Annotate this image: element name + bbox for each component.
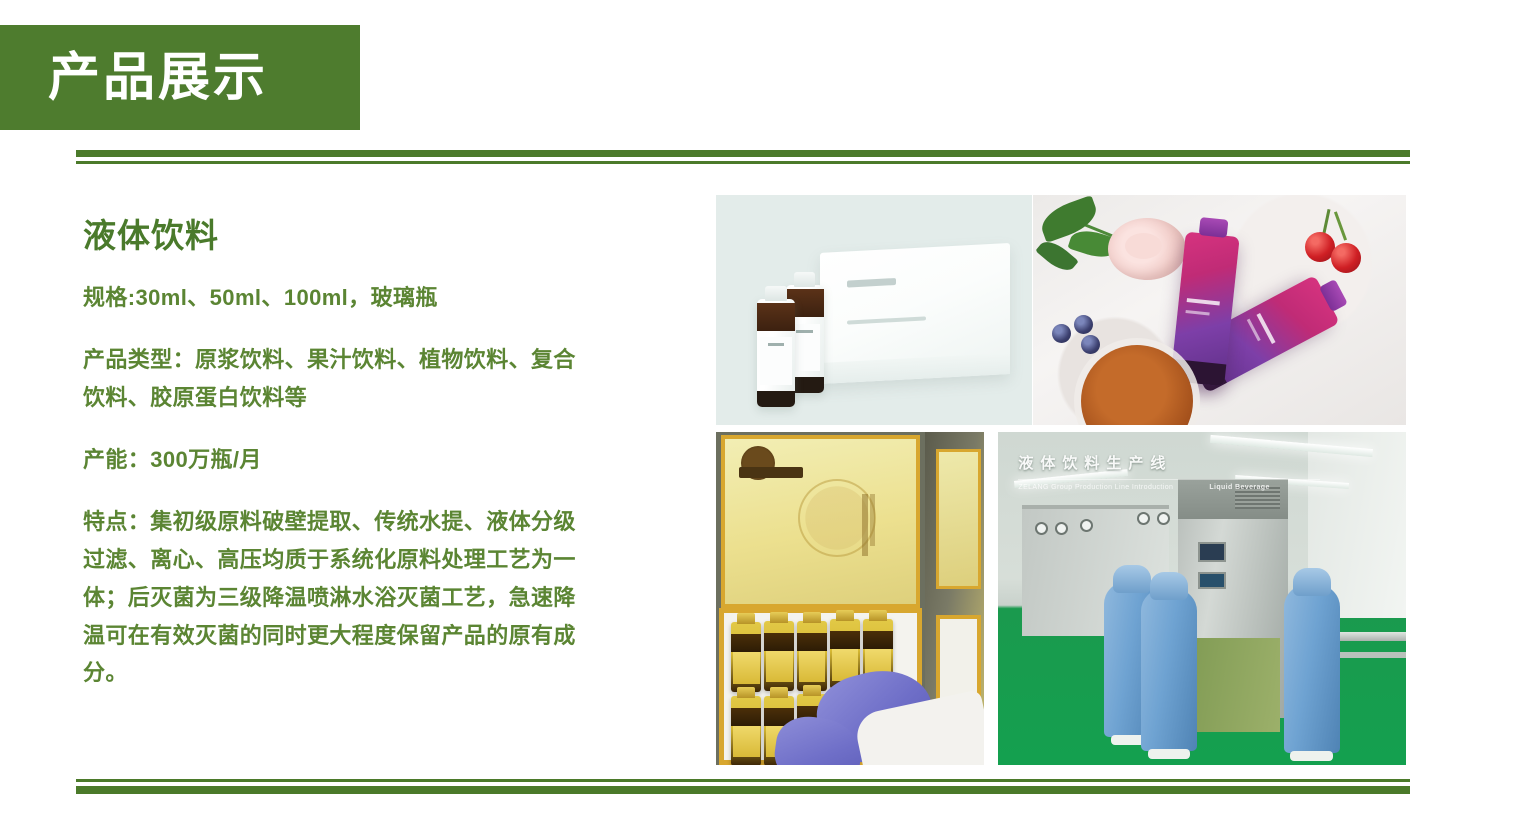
production-line-caption: 液体饮料生产线 ZELANG Group Production Line Int… xyxy=(1018,452,1320,491)
divider-bottom-thin-rule xyxy=(76,779,1410,782)
oral-liquid-vial-icon xyxy=(764,621,794,691)
vertical-text-mark xyxy=(862,494,868,556)
carton-text-mark xyxy=(847,317,927,325)
spec-line-capacity: 产能：300万瓶/月 xyxy=(83,443,583,477)
divider-top-thin-rule xyxy=(76,161,1410,164)
rose-flower-icon xyxy=(1108,218,1186,280)
divider-bottom xyxy=(76,779,1410,795)
product-carton-icon xyxy=(820,243,1010,384)
photo-pink-purple-collagen-bottles xyxy=(1033,195,1406,425)
photo-yellow-gift-box-packing xyxy=(716,432,984,765)
worker-icon xyxy=(1141,589,1197,751)
caption-subtitle-right: Liquid Beverage xyxy=(1209,484,1269,491)
product-description-column: 液体饮料 规格:30ml、50ml、100ml，玻璃瓶 产品类型：原浆饮料、果汁… xyxy=(83,218,583,692)
bottle-front-icon xyxy=(757,299,795,407)
page-header-banner: 产品展示 xyxy=(0,25,360,130)
vertical-text-mark xyxy=(870,494,875,546)
machine-control-screen xyxy=(1198,572,1227,589)
pressure-gauge-icon xyxy=(1137,512,1150,525)
bottle-label xyxy=(760,337,792,385)
page-title: 产品展示 xyxy=(48,52,268,104)
pressure-gauge-icon xyxy=(1055,522,1068,535)
spec-line-product-types: 产品类型：原浆饮料、果汁饮料、植物饮料、复合饮料、胶原蛋白饮料等 xyxy=(83,341,583,417)
bottle-label-line xyxy=(1187,298,1221,305)
section-heading: 液体饮料 xyxy=(83,218,583,254)
caption-subtitle-left: ZELANG Group Production Line Introductio… xyxy=(1018,484,1173,491)
pressure-gauge-icon xyxy=(1080,519,1093,532)
spec-line-specification: 规格:30ml、50ml、100ml，玻璃瓶 xyxy=(83,281,583,315)
caption-title-cn: 液体饮料生产线 xyxy=(1018,452,1320,473)
bottle-cap xyxy=(1199,217,1229,238)
oral-liquid-vial-icon xyxy=(731,696,761,765)
divider-top xyxy=(76,150,1410,166)
photo-white-box-with-two-bottles xyxy=(716,195,1032,425)
bottle-base xyxy=(757,391,795,407)
carton-brand-mark xyxy=(847,278,896,288)
photo-liquid-beverage-production-line: 液体饮料生产线 ZELANG Group Production Line Int… xyxy=(998,432,1406,765)
machine-control-screen xyxy=(1198,542,1227,562)
bottle-label-line xyxy=(1247,319,1261,342)
brand-name-mark xyxy=(739,467,803,478)
oral-liquid-vial-icon xyxy=(797,621,827,691)
oral-liquid-vial-icon xyxy=(731,622,761,692)
divider-bottom-thick-rule xyxy=(76,786,1410,794)
divider-top-thick-rule xyxy=(76,150,1410,157)
bottle-label-line xyxy=(1185,310,1210,316)
spec-line-features: 特点：集初级原料破壁提取、传统水提、液体分级过滤、离心、高压均质于系统化原料处理… xyxy=(83,503,583,692)
caption-subtitle-row: ZELANG Group Production Line Introductio… xyxy=(1018,479,1320,491)
blueberry-icon xyxy=(1052,324,1071,343)
worker-icon xyxy=(1284,585,1340,753)
blueberry-icon xyxy=(1074,315,1093,334)
pressure-gauge-icon xyxy=(1035,522,1048,535)
gift-box-lid xyxy=(721,435,919,608)
product-photo-grid: 液体饮料生产线 ZELANG Group Production Line Int… xyxy=(716,195,1406,765)
pressure-gauge-icon xyxy=(1157,512,1170,525)
second-box-lid xyxy=(936,449,982,589)
